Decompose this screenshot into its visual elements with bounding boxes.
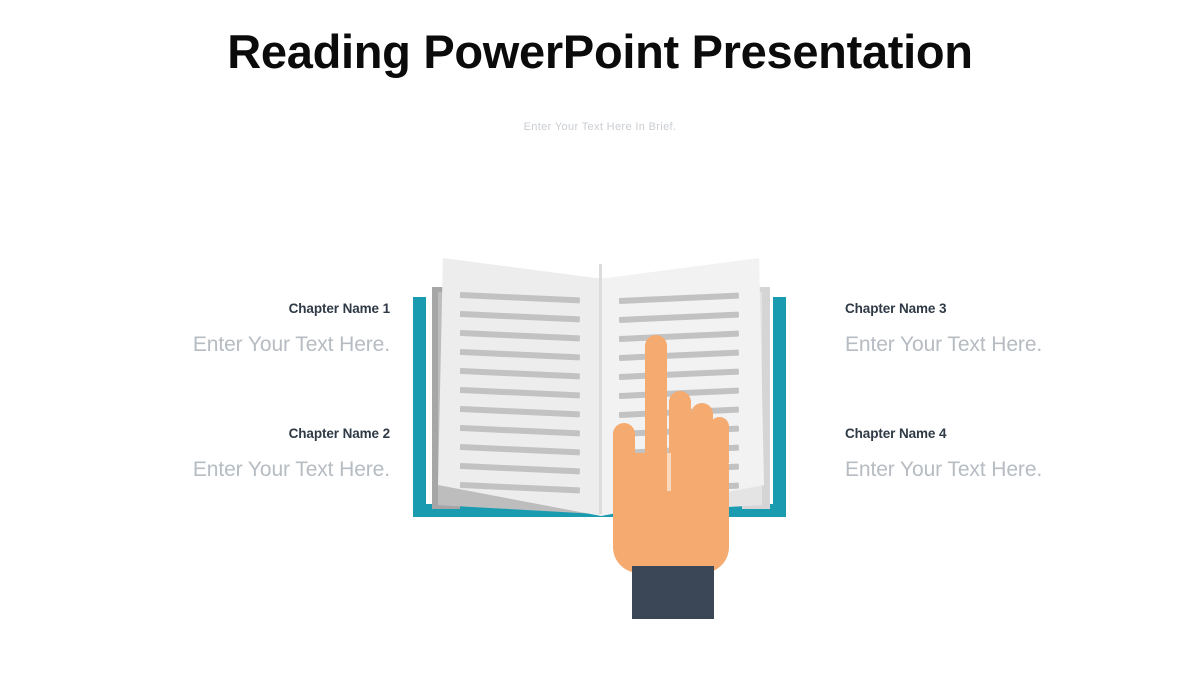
page-title: Reading PowerPoint Presentation [0, 25, 1200, 79]
page-text-line [460, 406, 580, 417]
page-text-line [460, 463, 580, 474]
book-cover-right-icon [773, 297, 786, 517]
chapter-title-4: Chapter Name 4 [845, 426, 1105, 441]
chapter-title-3: Chapter Name 3 [845, 301, 1105, 316]
page-text-line [460, 349, 580, 360]
page-text-line [460, 425, 580, 436]
book-cover-left-icon [413, 297, 426, 517]
index-finger-icon [645, 335, 667, 463]
page-text-line [460, 482, 580, 493]
page-text-line [460, 368, 580, 379]
book-page-left [438, 258, 601, 516]
chapter-body-3: Enter Your Text Here. [845, 333, 1105, 357]
chapter-body-4: Enter Your Text Here. [845, 458, 1105, 482]
open-book-illustration [405, 252, 795, 587]
chapter-block-3[interactable]: Chapter Name 3 Enter Your Text Here. [845, 301, 1105, 357]
chapter-title-2: Chapter Name 2 [130, 426, 390, 441]
page-subtitle: Enter Your Text Here In Brief. [0, 121, 1200, 133]
sleeve-cuff-icon [632, 566, 714, 619]
chapter-title-1: Chapter Name 1 [130, 301, 390, 316]
palm-icon [613, 453, 729, 573]
chapter-block-4[interactable]: Chapter Name 4 Enter Your Text Here. [845, 426, 1105, 482]
page-text-line [619, 312, 739, 323]
pointing-hand-icon [609, 335, 729, 587]
knuckle-gap-icon [667, 453, 671, 491]
chapter-block-2[interactable]: Chapter Name 2 Enter Your Text Here. [130, 426, 390, 482]
page-text-line [460, 444, 580, 455]
page-text-line [460, 387, 580, 398]
page-text-line [460, 330, 580, 341]
chapter-block-1[interactable]: Chapter Name 1 Enter Your Text Here. [130, 301, 390, 357]
page-text-line [619, 293, 739, 304]
chapter-body-2: Enter Your Text Here. [130, 458, 390, 482]
page-text-line [460, 292, 580, 303]
page-text-line [460, 311, 580, 322]
book-spine-icon [599, 264, 602, 514]
chapter-body-1: Enter Your Text Here. [130, 333, 390, 357]
